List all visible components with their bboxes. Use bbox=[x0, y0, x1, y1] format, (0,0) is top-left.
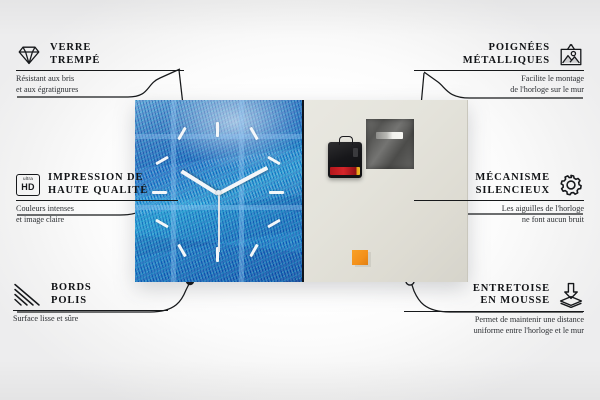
print-grid-line bbox=[239, 100, 244, 282]
metal-hanger-plate bbox=[366, 119, 414, 169]
feature-rule bbox=[16, 200, 178, 201]
feature-bords-polis: BORDS POLIS Surface lisse et sûre bbox=[13, 282, 183, 325]
feature-header: ultra HD IMPRESSION DE HAUTE QUALITÉ bbox=[16, 172, 186, 197]
clock-tick bbox=[269, 191, 284, 194]
feature-subtitle: Les aiguilles de l'horloge ne font aucun… bbox=[414, 204, 584, 225]
ultra-hd-icon: ultra HD bbox=[16, 174, 40, 196]
feature-mecanisme-silencieux: MÉCANISME SILENCIEUX Les aiguilles de l'… bbox=[414, 172, 584, 225]
foam-spacer bbox=[352, 250, 368, 265]
feature-header: MÉCANISME SILENCIEUX bbox=[414, 172, 584, 197]
clock-movement bbox=[328, 142, 362, 178]
clock-tick bbox=[155, 156, 169, 166]
movement-hook bbox=[339, 136, 353, 145]
infographic-canvas: VERRE TREMPÉ Résistant aux bris et aux é… bbox=[0, 0, 600, 400]
battery bbox=[330, 167, 360, 175]
ultra-hd-big-label: HD bbox=[21, 183, 34, 192]
feature-title: IMPRESSION DE HAUTE QUALITÉ bbox=[48, 172, 148, 197]
feature-rule bbox=[16, 70, 184, 71]
feature-subtitle: Couleurs intenses et image claire bbox=[16, 204, 186, 225]
feature-header: BORDS POLIS bbox=[13, 282, 183, 307]
feature-title: BORDS POLIS bbox=[51, 282, 92, 307]
clock-tick bbox=[216, 122, 219, 137]
feature-rule bbox=[414, 200, 584, 201]
feature-title: VERRE TREMPÉ bbox=[50, 42, 100, 67]
polished-edge-icon bbox=[13, 283, 43, 307]
hanger-slot bbox=[376, 132, 403, 139]
picture-frame-hanger-icon bbox=[558, 43, 584, 67]
feature-header: VERRE TREMPÉ bbox=[16, 42, 186, 67]
feature-title: POIGNÉES MÉTALLIQUES bbox=[463, 42, 550, 67]
feature-header: ENTRETOISE EN MOUSSE bbox=[404, 282, 584, 308]
feature-entretoise-en-mousse: ENTRETOISE EN MOUSSE Permet de maintenir… bbox=[404, 282, 584, 336]
feature-verre-trempe: VERRE TREMPÉ Résistant aux bris et aux é… bbox=[16, 42, 186, 95]
gear-icon bbox=[558, 173, 584, 197]
feature-rule bbox=[414, 70, 584, 71]
movement-button bbox=[353, 148, 358, 157]
diamond-icon bbox=[16, 44, 42, 66]
feature-header: POIGNÉES MÉTALLIQUES bbox=[414, 42, 584, 67]
feature-subtitle: Résistant aux bris et aux égratignures bbox=[16, 74, 186, 95]
feature-rule bbox=[13, 310, 168, 311]
feature-impression-haute-qualite: ultra HD IMPRESSION DE HAUTE QUALITÉ Cou… bbox=[16, 172, 186, 225]
feature-poignees-metalliques: POIGNÉES MÉTALLIQUES Facilite le montage… bbox=[414, 42, 584, 95]
feature-title: MÉCANISME SILENCIEUX bbox=[475, 172, 550, 197]
feature-title: ENTRETOISE EN MOUSSE bbox=[473, 283, 550, 308]
clock-second-hand bbox=[218, 192, 220, 252]
clock-hub bbox=[216, 190, 221, 195]
feature-rule bbox=[404, 311, 584, 312]
foam-spacer-arrow-icon bbox=[558, 282, 584, 308]
feature-subtitle: Facilite le montage de l'horloge sur le … bbox=[414, 74, 584, 95]
feature-subtitle: Surface lisse et sûre bbox=[13, 314, 183, 325]
feature-subtitle: Permet de maintenir une distance uniform… bbox=[404, 315, 584, 336]
